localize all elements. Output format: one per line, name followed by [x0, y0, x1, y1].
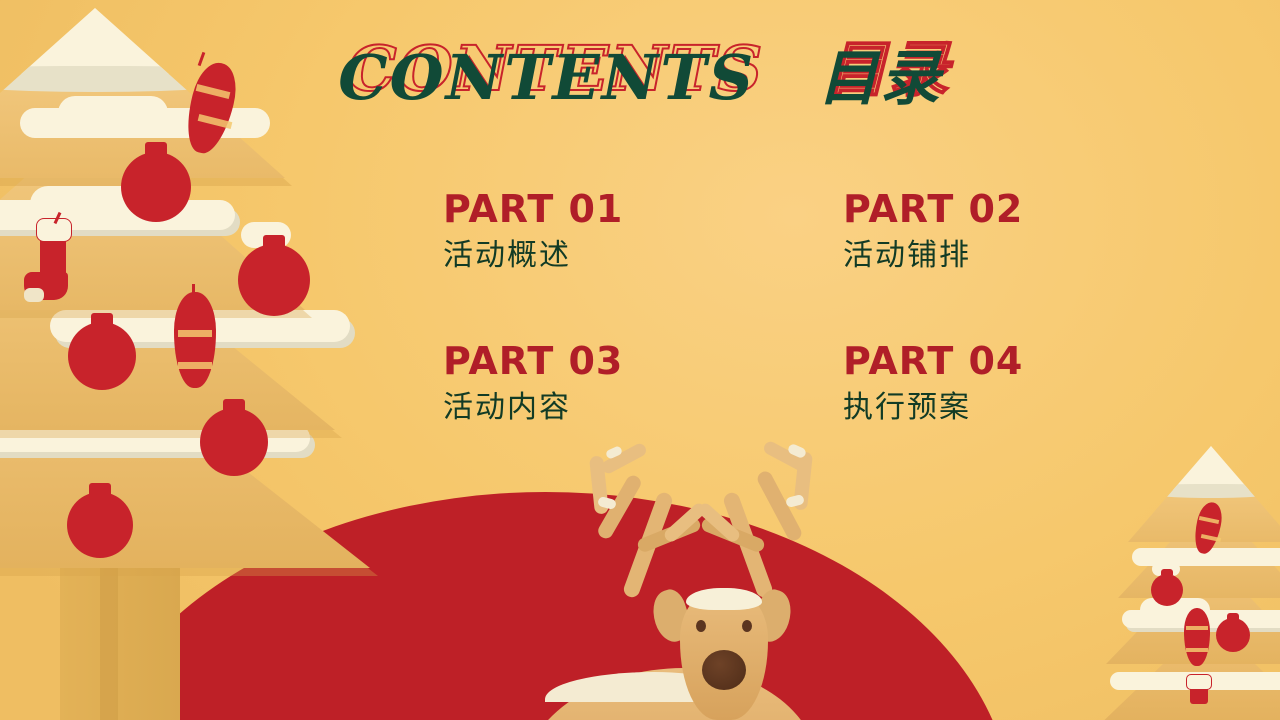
tree-snow-top — [0, 8, 285, 178]
part-number-2: PART 02 — [843, 190, 1243, 230]
part-number-1: PART 01 — [443, 190, 843, 230]
reindeer-eye-left — [696, 620, 706, 632]
contents-item-3[interactable]: PART 03 活动内容 — [443, 342, 843, 426]
part-number-4: PART 04 — [843, 342, 1243, 382]
part-label-1: 活动概述 — [443, 238, 843, 274]
part-label-2: 活动铺排 — [843, 238, 1243, 274]
title-chinese: 目录 — [818, 30, 942, 117]
ornament-bauble-5 — [67, 492, 133, 558]
ornament-bauble-1 — [121, 152, 191, 222]
title-english-outline: CONTENTS — [347, 32, 764, 105]
part-label-3: 活动内容 — [443, 390, 843, 426]
contents-item-4[interactable]: PART 04 执行预案 — [843, 342, 1243, 426]
reindeer-eye-right — [742, 620, 752, 632]
ornament-bauble-3 — [68, 322, 136, 390]
title-chinese-wrap: 目录 目录 — [818, 30, 942, 117]
part-number-3: PART 03 — [443, 342, 843, 382]
contents-list: PART 01 活动概述 PART 02 活动铺排 PART 03 活动内容 P… — [443, 190, 1103, 426]
right-ornament-bauble-2 — [1216, 618, 1250, 652]
title-english: CONTENTS — [338, 41, 755, 114]
ornament-bauble-4 — [200, 408, 268, 476]
part-label-4: 执行预案 — [843, 390, 1243, 426]
contents-item-1[interactable]: PART 01 活动概述 — [443, 190, 843, 274]
reindeer-head-snow — [686, 588, 762, 610]
tree-snow-1b — [58, 96, 168, 130]
title-english-wrap: CONTENTS CONTENTS — [338, 41, 755, 114]
contents-item-2[interactable]: PART 02 活动铺排 — [843, 190, 1243, 274]
title-chinese-outline: 目录 — [827, 21, 951, 108]
reindeer-nose — [702, 650, 746, 690]
contents-slide: CONTENTS CONTENTS 目录 目录 PART 01 活动概述 PAR… — [0, 0, 1280, 720]
